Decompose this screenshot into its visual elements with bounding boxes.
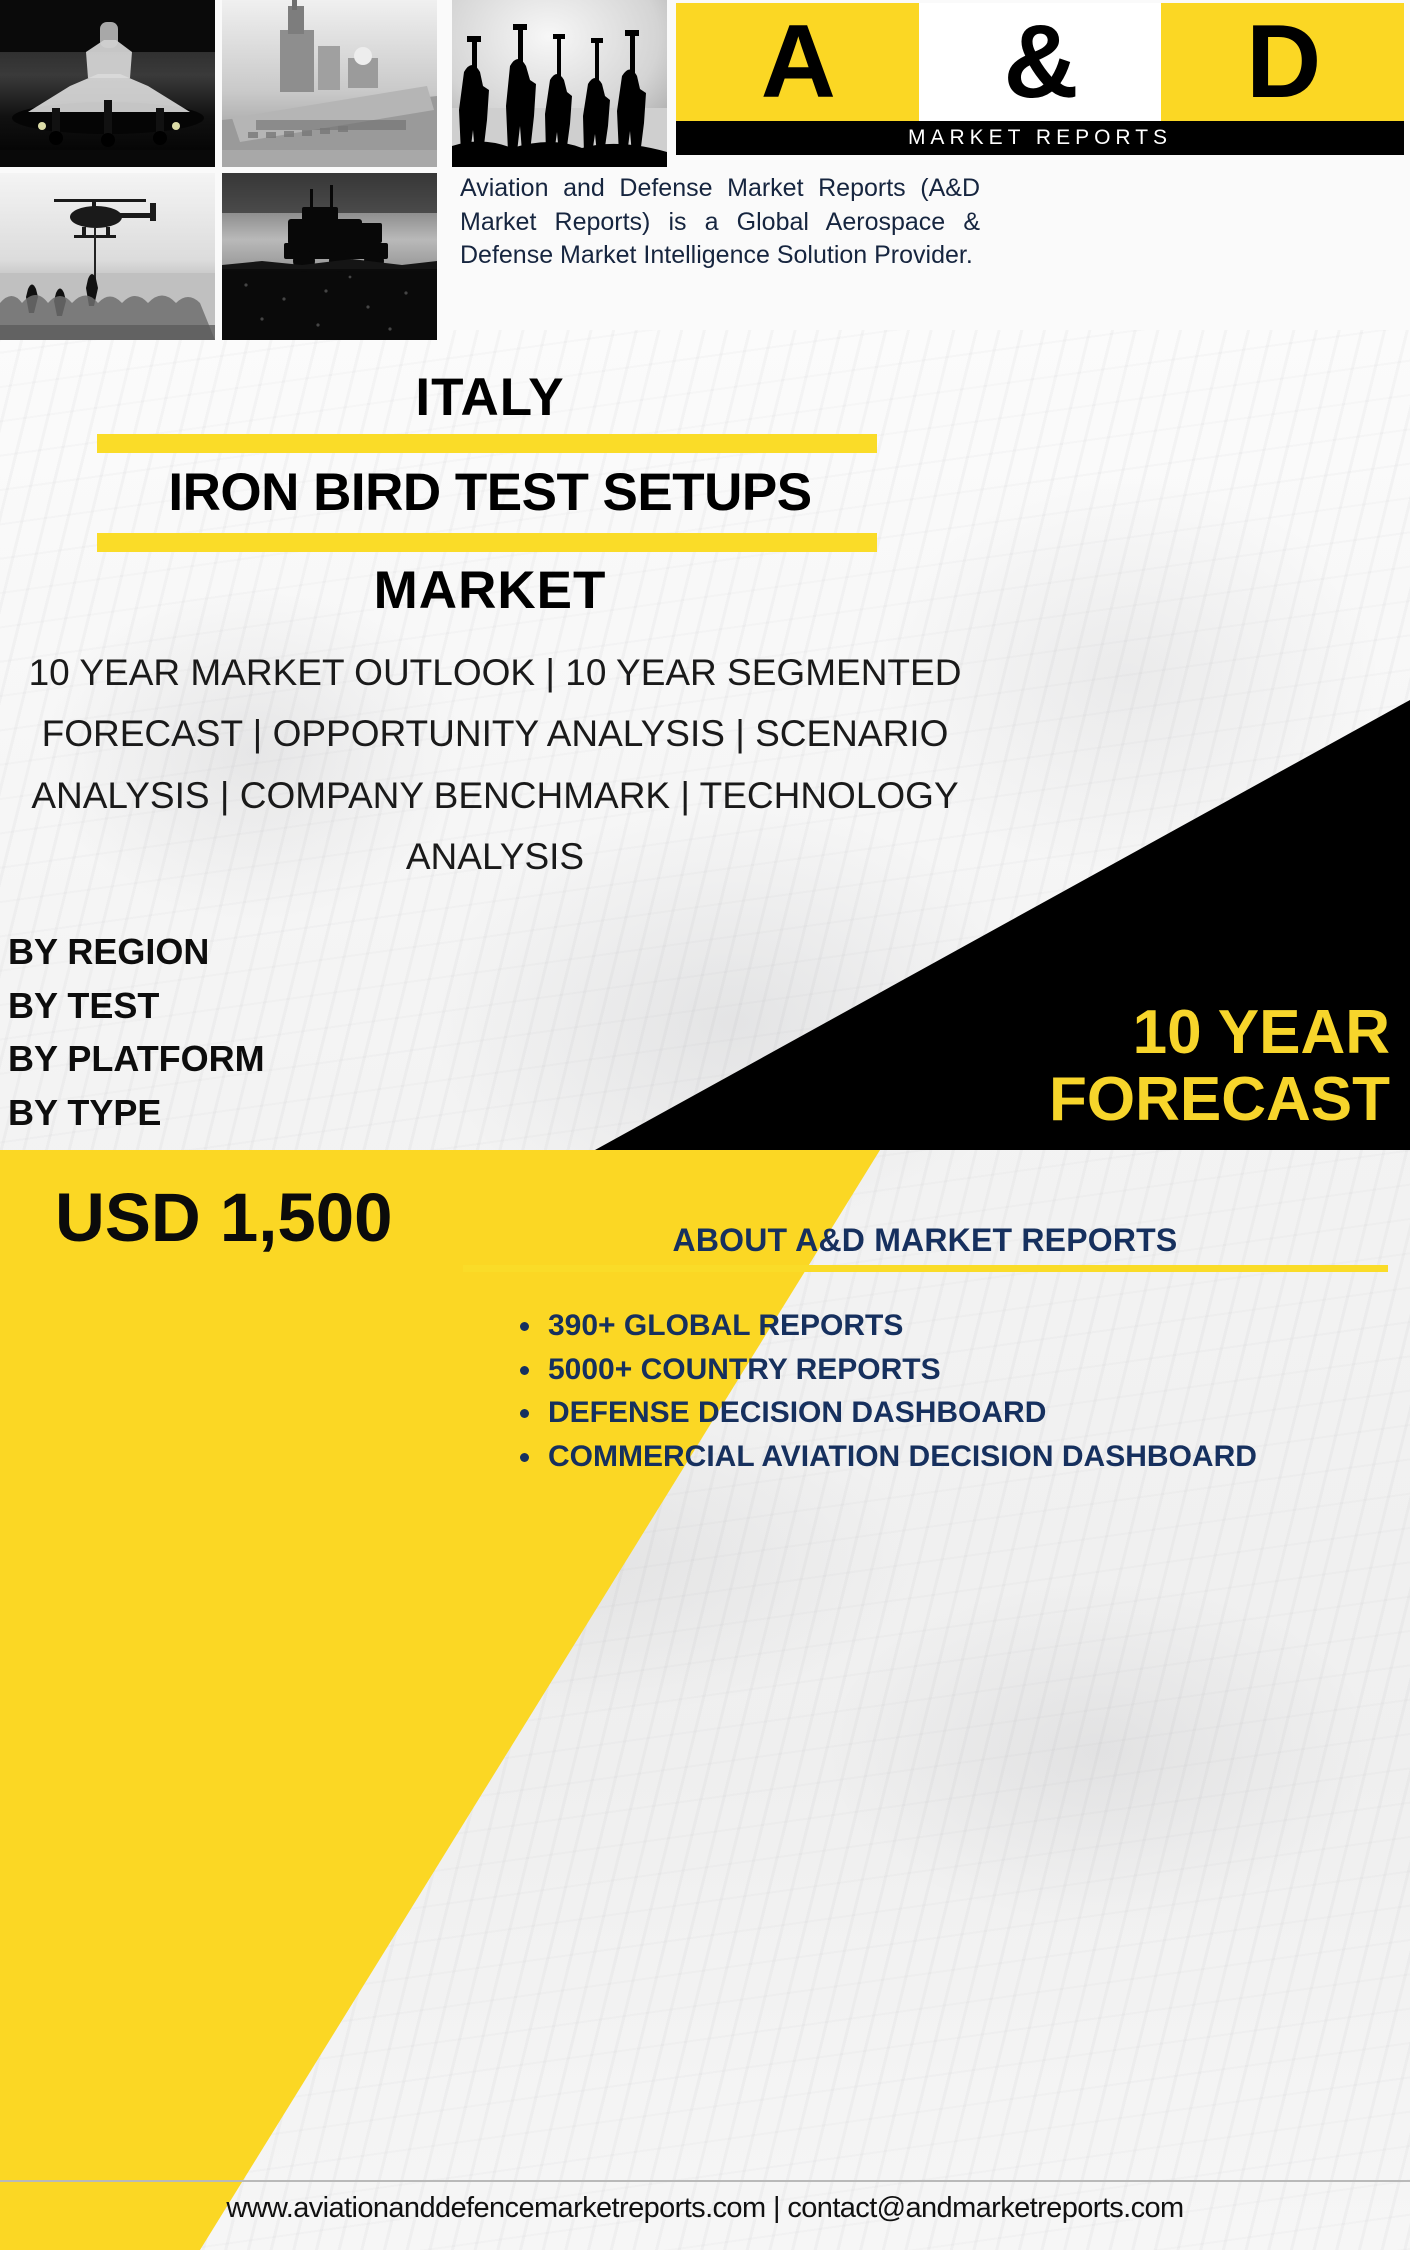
title-rule-top: [97, 434, 877, 453]
segment-item-platform: BY PLATFORM: [8, 1032, 548, 1086]
segment-item-type: BY TYPE: [8, 1086, 548, 1140]
title-country: ITALY: [0, 367, 980, 428]
intro-paragraph: Aviation and Defense Market Reports (A&D…: [460, 172, 980, 273]
footer-divider: [0, 2180, 1410, 2182]
armored-vehicle-photo: [222, 173, 437, 340]
logo-letter-d: D: [1246, 10, 1319, 114]
footer-contact[interactable]: www.aviationanddefencemarketreports.com …: [0, 2192, 1410, 2225]
about-bullet-defense-dashboard: DEFENSE DECISION DASHBOARD: [520, 1393, 1390, 1433]
segment-item-test: BY TEST: [8, 979, 548, 1033]
subtitle-features: 10 YEAR MARKET OUTLOOK | 10 YEAR SEGMENT…: [20, 642, 970, 888]
about-bullet-global-reports: 390+ GLOBAL REPORTS: [520, 1306, 1390, 1346]
about-section: ABOUT A&D MARKET REPORTS 390+ GLOBAL REP…: [460, 1222, 1390, 1480]
brand-logo: A & D MARKET REPORTS: [676, 3, 1404, 153]
soldiers-silhouette-photo: [452, 0, 667, 167]
fighter-jet-photo: [0, 0, 215, 167]
logo-tagline-bar: MARKET REPORTS: [676, 121, 1404, 155]
segmentation-list: BY REGION BY TEST BY PLATFORM BY TYPE: [8, 925, 548, 1140]
logo-cell-ampersand: &: [919, 3, 1162, 121]
logo-letter-a: A: [761, 10, 834, 114]
forecast-badge: 10 YEAR FORECAST: [620, 1000, 1390, 1134]
poster-root: A & D MARKET REPORTS Aviation and Defens…: [0, 0, 1410, 2250]
logo-cell-a: A: [676, 3, 919, 121]
forecast-badge-line1: 10 YEAR: [620, 1000, 1390, 1067]
title-rule-bottom: [97, 533, 877, 552]
price-value: USD 1,500: [55, 1178, 393, 1257]
about-underline: [463, 1265, 1388, 1272]
title-suffix: MARKET: [0, 560, 980, 621]
about-bullet-list: 390+ GLOBAL REPORTS 5000+ COUNTRY REPORT…: [460, 1306, 1390, 1476]
title-main: IRON BIRD TEST SETUPS: [0, 462, 980, 523]
aircraft-carrier-photo: [222, 0, 437, 167]
segment-item-region: BY REGION: [8, 925, 548, 979]
about-heading: ABOUT A&D MARKET REPORTS: [460, 1222, 1390, 1259]
logo-tagline: MARKET REPORTS: [908, 126, 1172, 150]
helicopter-photo: [0, 173, 215, 340]
about-bullet-country-reports: 5000+ COUNTRY REPORTS: [520, 1350, 1390, 1390]
logo-letter-ampersand: &: [1003, 10, 1076, 114]
logo-letters: A & D: [676, 3, 1404, 121]
forecast-badge-line2: FORECAST: [620, 1067, 1390, 1134]
about-bullet-commercial-dashboard: COMMERCIAL AVIATION DECISION DASHBOARD: [520, 1437, 1390, 1477]
logo-cell-d: D: [1161, 3, 1404, 121]
